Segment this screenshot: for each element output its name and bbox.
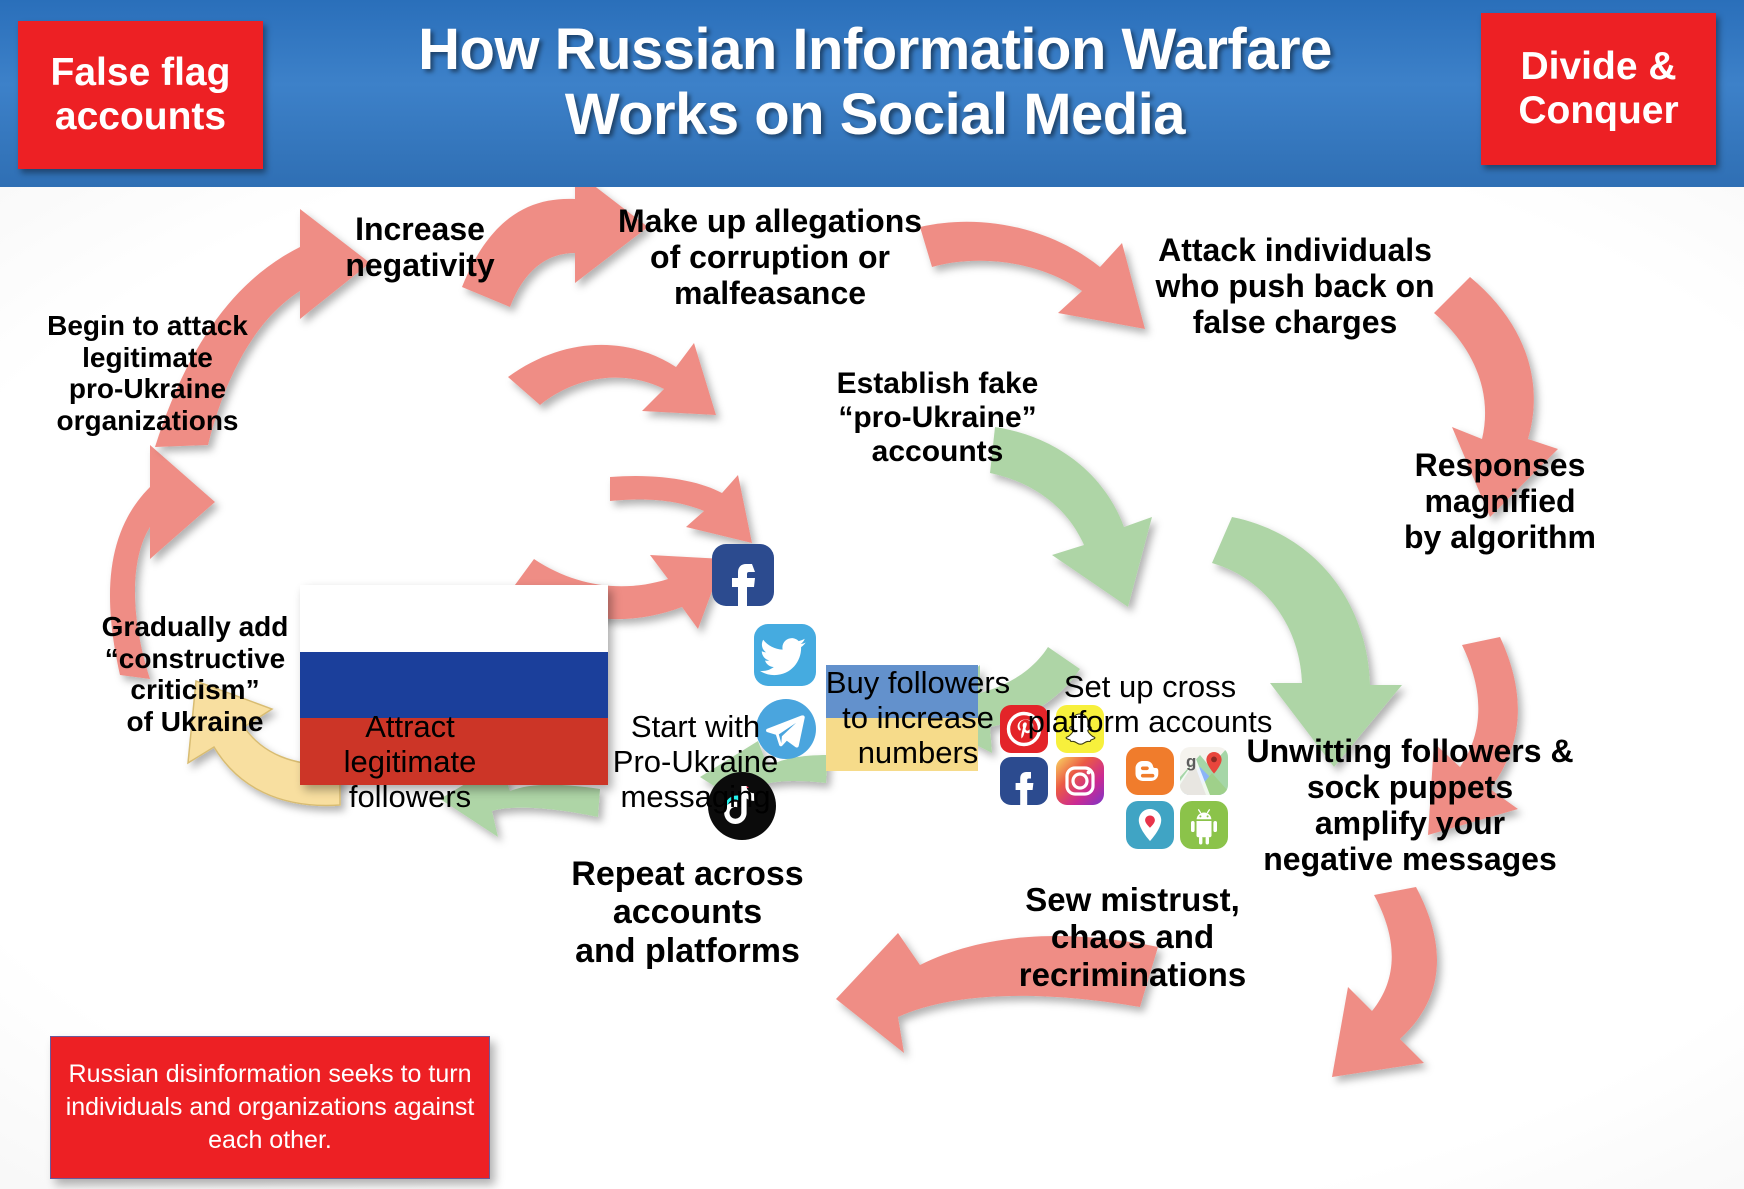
page-title-line1: How Russian Information Warfare: [300, 18, 1450, 83]
step-sew-mistrust: Sew mistrust, chaos and recriminations: [985, 881, 1280, 993]
instagram-icon: [1056, 757, 1104, 805]
step-increase-negativity: Increase negativity: [295, 211, 545, 283]
step-begin-to-attack: Begin to attack legitimate pro-Ukraine o…: [30, 310, 265, 437]
step-responses-magnified: Responses magnified by algorithm: [1350, 447, 1650, 555]
callout-box: Russian disinformation seeks to turn ind…: [50, 1036, 490, 1179]
arrow-unwitting-to-mistrust: [1332, 887, 1437, 1077]
step-set-up-cross: Set up cross platform accounts: [1005, 669, 1295, 739]
periscope-icon: [1126, 801, 1174, 849]
android-icon: [1180, 801, 1228, 849]
svg-text:g: g: [1186, 752, 1196, 771]
step-establish-fake: Establish fake “pro-Ukraine” accounts: [815, 367, 1060, 469]
header-banner: How Russian Information Warfare Works on…: [0, 0, 1744, 187]
step-start-with: Start with Pro-Ukraine messaging: [598, 709, 793, 814]
arrow-allegations-to-attack: [920, 222, 1145, 329]
blogger-icon: [1126, 747, 1174, 795]
step-repeat-across: Repeat across accounts and platforms: [530, 855, 845, 970]
facebook-icon: [712, 544, 774, 606]
infographic-page: How Russian Information Warfare Works on…: [0, 0, 1744, 1189]
arrow-russia-to-facebook: [508, 343, 716, 415]
step-attract-legitimate: Attract legitimate followers: [325, 709, 495, 814]
step-buy-followers: Buy followers to increase numbers: [823, 665, 1013, 770]
step-gradually-add: Gradually add “constructive criticism” o…: [45, 611, 345, 738]
step-make-up-allegations: Make up allegations of corruption or mal…: [600, 203, 940, 311]
arrow-russia-to-twitter: [610, 475, 752, 543]
badge-divide-and-conquer: Divide & Conquer: [1481, 13, 1716, 165]
step-unwitting-followers: Unwitting followers & sock puppets ampli…: [1225, 733, 1595, 878]
twitter-icon: [754, 624, 816, 686]
google-maps-icon: g: [1180, 747, 1228, 795]
page-title: How Russian Information Warfare Works on…: [300, 18, 1450, 148]
badge-false-flag-accounts: False flag accounts: [18, 21, 263, 169]
diagram-canvas: g Increase: [0, 187, 1744, 1189]
step-attack-individuals: Attack individuals who push back on fals…: [1130, 232, 1460, 340]
page-title-line2: Works on Social Media: [300, 83, 1450, 148]
